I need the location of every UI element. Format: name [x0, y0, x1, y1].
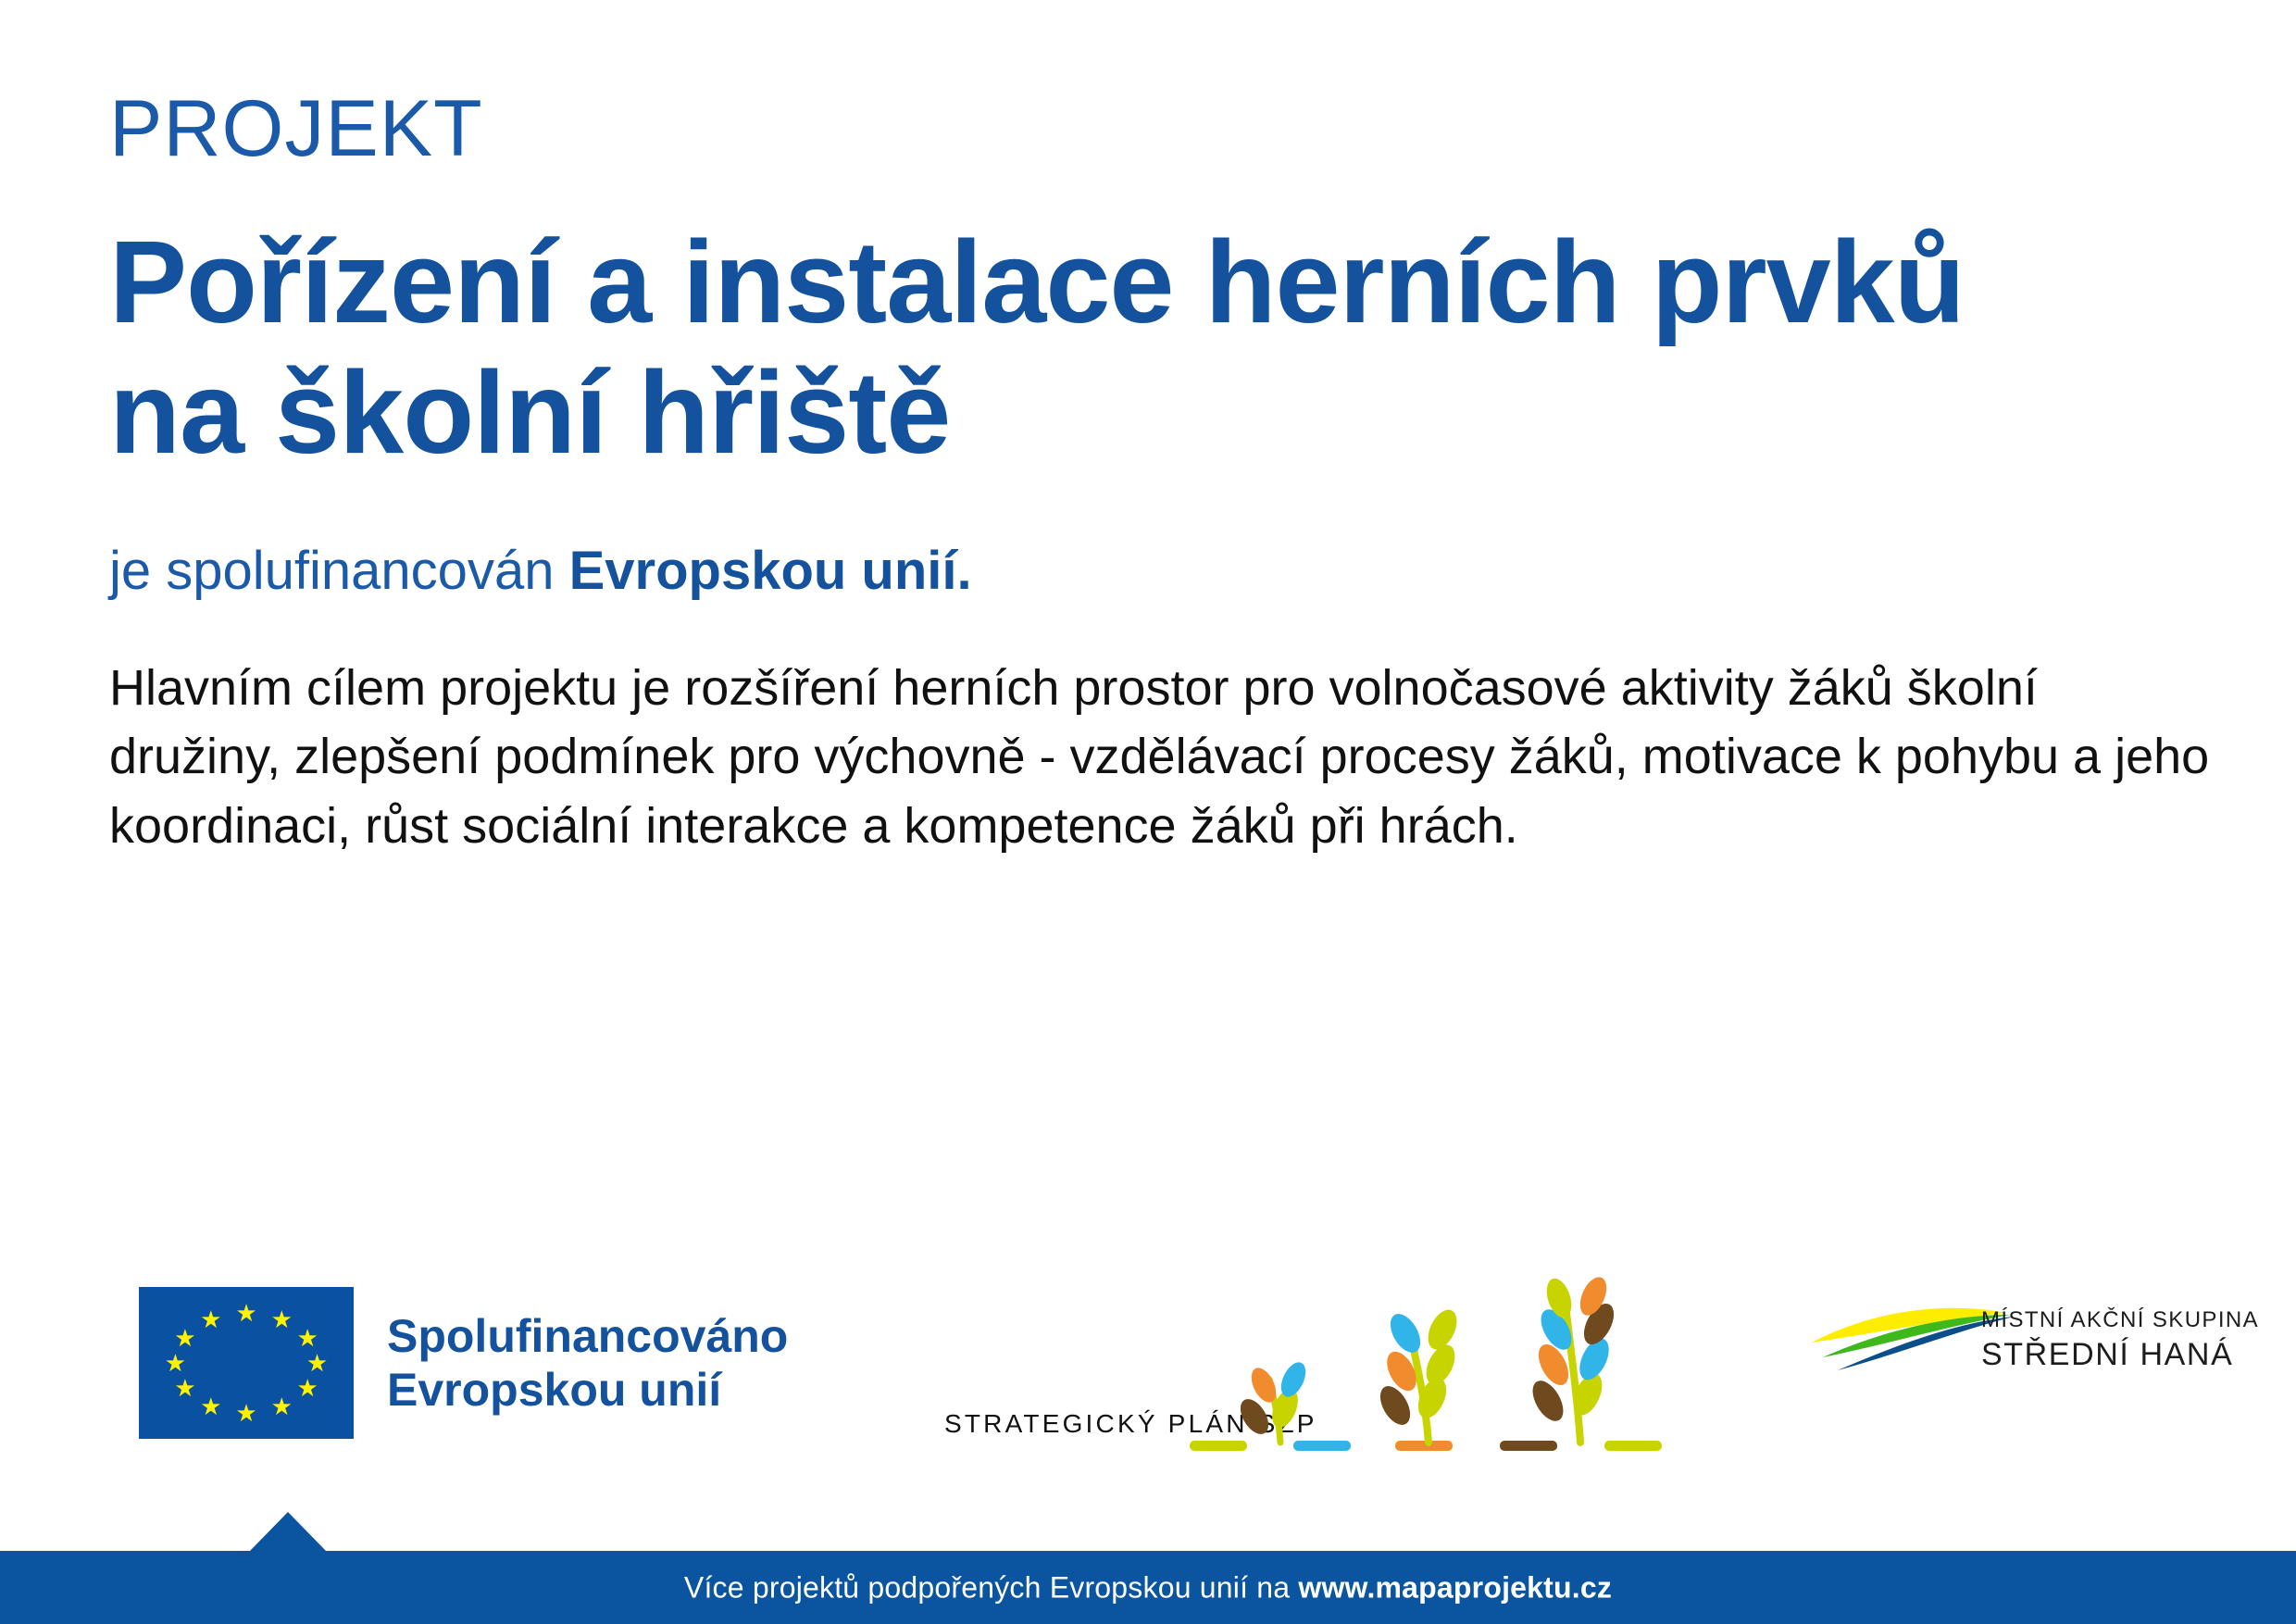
eu-star-icon: ★ [162, 1351, 188, 1375]
page-title-line-2: na školní hřiště [109, 347, 2211, 478]
eu-star-icon: ★ [268, 1394, 294, 1418]
poster-canvas: PROJEKT Pořízení a instalace herních prv… [0, 0, 2296, 1624]
mas-logo-text: MÍSTNÍ AKČNÍ SKUPINA STŘEDNÍ HANÁ [1981, 1307, 2194, 1373]
eu-star-icon: ★ [268, 1307, 294, 1331]
eu-flag-icon: ★ ★ ★ ★ ★ ★ ★ ★ ★ ★ ★ ★ [139, 1287, 354, 1439]
funding-statement-prefix: je spolufinancován [109, 541, 569, 601]
page-title-line-1: Pořízení a instalace herních prvků [109, 217, 2211, 347]
eu-logo-line-2: Evropskou unií [387, 1363, 788, 1417]
project-description: Hlavním cílem projektu je rozšíření hern… [109, 654, 2211, 861]
page-title: Pořízení a instalace herních prvků na šk… [109, 217, 2211, 478]
eu-star-icon: ★ [198, 1307, 224, 1331]
footer-text: Více projektů podpořených Evropskou unií… [0, 1570, 2296, 1605]
eu-star-icon: ★ [233, 1301, 259, 1325]
eu-star-icon: ★ [233, 1401, 259, 1425]
mas-logo-line-1: MÍSTNÍ AKČNÍ SKUPINA [1981, 1307, 2194, 1333]
kicker-label: PROJEKT [109, 89, 2211, 169]
poster-content: PROJEKT Pořízení a instalace herních prv… [109, 89, 2211, 860]
mas-logo: MÍSTNÍ AKČNÍ SKUPINA STŘEDNÍ HANÁ [1810, 1287, 2199, 1444]
logo-strip: ★ ★ ★ ★ ★ ★ ★ ★ ★ ★ ★ ★ Spolufinancováno… [0, 1268, 2296, 1500]
footer-notch-triangle [250, 1512, 326, 1551]
footer-bar: Více projektů podpořených Evropskou unií… [0, 1551, 2296, 1624]
eu-star-icon: ★ [305, 1351, 331, 1375]
eu-logo-text: Spolufinancováno Evropskou unií [387, 1309, 788, 1417]
footer-link[interactable]: www.mapaprojektu.cz [1298, 1570, 1612, 1604]
eu-star-icon: ★ [198, 1394, 224, 1418]
eu-star-icon: ★ [294, 1326, 320, 1350]
eu-logo-line-1: Spolufinancováno [387, 1309, 788, 1363]
eu-star-icon: ★ [172, 1326, 198, 1350]
eu-star-icon: ★ [172, 1376, 198, 1400]
eu-cofunding-logo: ★ ★ ★ ★ ★ ★ ★ ★ ★ ★ ★ ★ Spolufinancováno… [139, 1287, 788, 1439]
eu-star-icon: ★ [294, 1376, 320, 1400]
footer-text-prefix: Více projektů podpořených Evropskou unií… [684, 1570, 1298, 1604]
funding-statement-emphasis: Evropskou unií. [569, 541, 972, 601]
funding-statement: je spolufinancován Evropskou unií. [109, 539, 2211, 604]
mas-logo-line-2: STŘEDNÍ HANÁ [1981, 1337, 2194, 1373]
szp-plants-icon [1180, 1276, 1694, 1461]
szp-logo: STRATEGICKÝ PLÁN SZP [944, 1276, 1694, 1461]
